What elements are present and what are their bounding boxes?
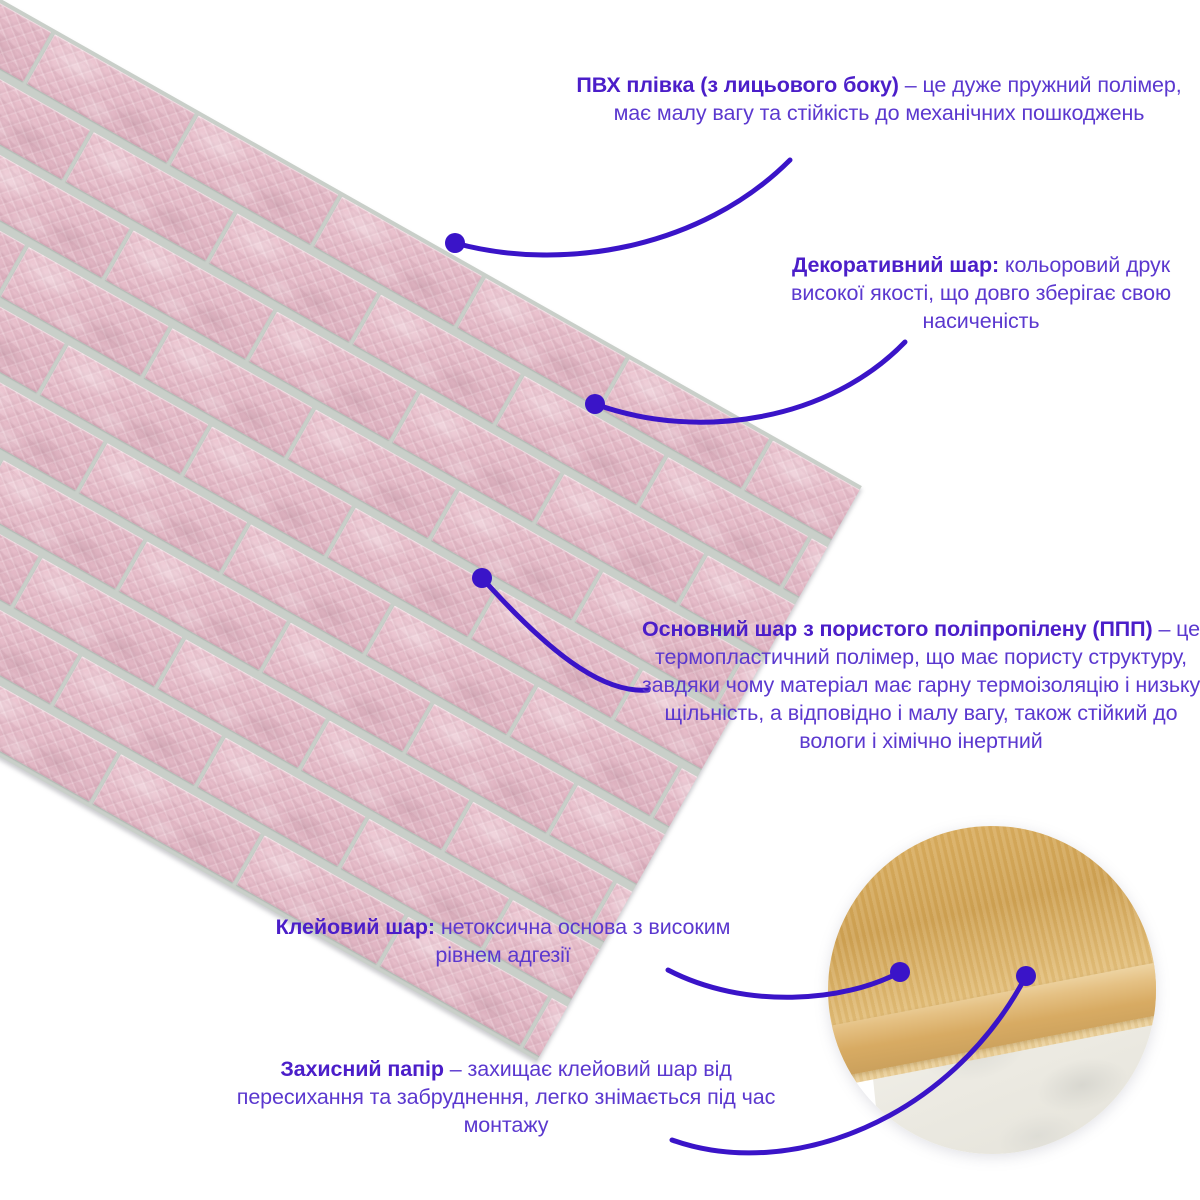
connector-line-pvc-film [455,160,790,255]
callout-adhesive-layer-body: нетоксична основа з високим рівнем адгез… [435,915,730,967]
callout-adhesive-layer: Клейовий шар: нетоксична основа з високи… [268,914,738,970]
connector-line-base-layer [482,578,648,690]
callout-base-layer-heading: Основний шар з пористого поліпропілену (… [642,617,1153,641]
callout-base-layer: Основний шар з пористого поліпропілену (… [640,616,1200,756]
connector-dot-pvc-film [445,233,465,253]
callout-protective-paper-heading: Захисний папір [280,1057,444,1081]
panel-side-edge [0,0,862,1068]
inset-photo [828,826,1156,1154]
panel-face [0,0,862,1061]
callout-pvc-film-heading: ПВХ плівка (з лицьового боку) [576,73,899,97]
brick-row [0,352,634,946]
connector-dot-base-layer [472,568,492,588]
connector-line-decorative-layer [595,342,905,422]
callout-protective-paper: Захисний папір – захищає клейовий шар ві… [232,1056,780,1140]
callout-adhesive-layer-heading: Клейовий шар: [276,915,435,939]
brick-pattern [0,0,862,1061]
infographic-page: ПВХ плівка (з лицьового боку) – це дуже … [0,0,1200,1200]
callout-pvc-film: ПВХ плівка (з лицьового боку) – це дуже … [556,72,1200,128]
brick-row [0,64,797,658]
connector-dot-decorative-layer [585,394,605,414]
brick-row [0,237,699,831]
panel-corner-photo-inset [828,826,1156,1154]
callout-decorative-layer: Декоративний шар: кольоровий друк високо… [762,252,1200,336]
brick-row [0,179,732,773]
brick-row [0,466,569,1060]
callout-decorative-layer-heading: Декоративний шар: [792,253,999,277]
brick-row [0,294,667,888]
